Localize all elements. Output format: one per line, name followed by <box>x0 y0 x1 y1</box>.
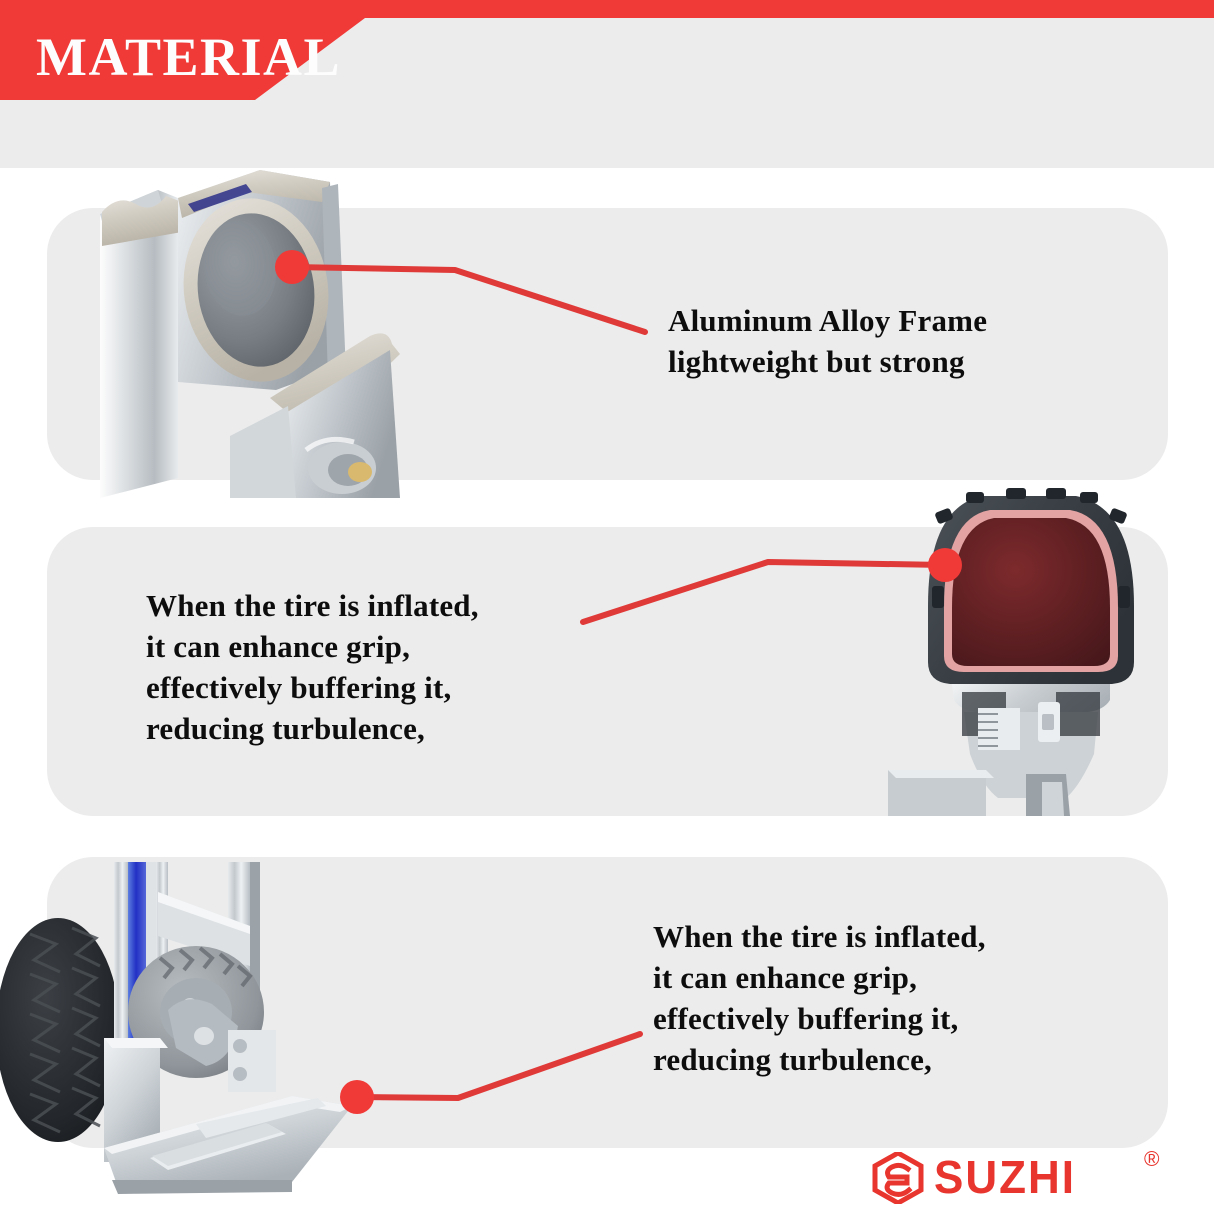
callout-text-aluminum-frame: Aluminum Alloy Frame lightweight but str… <box>668 300 987 382</box>
suzhi-hexagon-s-icon <box>872 1152 924 1204</box>
pneumatic-tire-cross-section-photo <box>866 486 1196 816</box>
hand-truck-base-plate-photo <box>0 862 410 1208</box>
aluminum-extrusion-cross-section-photo <box>70 168 490 498</box>
callout-text-tire-base: When the tire is inflated, it can enhanc… <box>653 916 986 1080</box>
brand-wordmark: SUZHI <box>934 1154 1076 1202</box>
brand-logo: SUZHI ® <box>872 1148 1192 1206</box>
callout-text-tire-left: When the tire is inflated, it can enhanc… <box>146 585 479 749</box>
page-title: MATERIAL <box>36 18 341 100</box>
registered-trademark-symbol: ® <box>1144 1148 1159 1172</box>
